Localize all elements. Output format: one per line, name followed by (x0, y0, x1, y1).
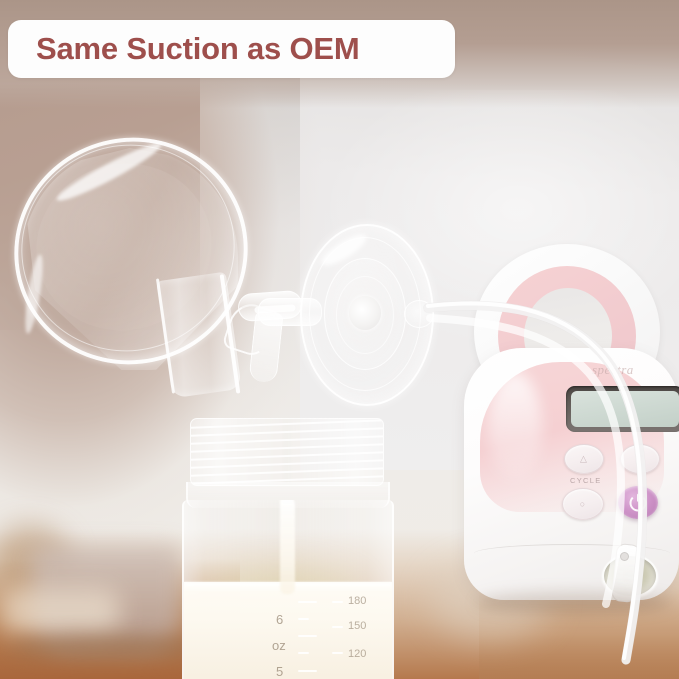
banner-text: Same Suction as OEM (36, 31, 360, 67)
oz-mark-5: 5 (276, 664, 283, 679)
bokeh-blob-lower-left (0, 588, 120, 634)
pump-body-highlight (488, 372, 542, 482)
level-button[interactable]: ○ (562, 488, 604, 520)
milk-bottle: 6 oz 5 4 (176, 410, 398, 679)
ml-mark-180: 180 (348, 595, 366, 607)
power-button[interactable] (618, 486, 658, 519)
disc-tubing-port (404, 300, 434, 328)
pump-brand-logo: spectra (592, 362, 634, 378)
power-icon-bar (637, 493, 639, 501)
cycle-up-button[interactable]: △ (564, 444, 604, 474)
cycle-up-icon: △ (565, 454, 603, 465)
disc-hub (349, 296, 381, 330)
bokeh-cup-saucer (8, 636, 204, 658)
bottle-neck-threads (190, 418, 384, 486)
cycle-down-button[interactable]: ▽ (620, 444, 660, 474)
cycle-label: CYCLE (570, 476, 602, 485)
bottle-measurement-scale: 6 oz 5 4 (276, 596, 394, 679)
lcd-screen (571, 391, 679, 427)
product-image-stage: spectra △ ▽ CYCLE ○ (0, 0, 679, 679)
backflow-protector-disc (300, 224, 430, 402)
lcd-bezel (566, 386, 679, 432)
level-icon: ○ (563, 499, 603, 509)
pump-shadow (476, 592, 672, 614)
ml-mark-120: 120 (348, 648, 366, 660)
ml-mark-150: 150 (348, 620, 366, 632)
tubing-plug-dot (620, 552, 629, 561)
oz-mark-6: 6 (276, 612, 283, 627)
pump-unit: spectra △ ▽ CYCLE ○ (462, 244, 679, 644)
cycle-down-icon: ▽ (621, 454, 659, 465)
oz-unit-label: oz (272, 638, 286, 653)
bottle-body: 6 oz 5 4 (182, 500, 394, 679)
milk-stream (280, 500, 295, 594)
banner: Same Suction as OEM (8, 20, 455, 78)
